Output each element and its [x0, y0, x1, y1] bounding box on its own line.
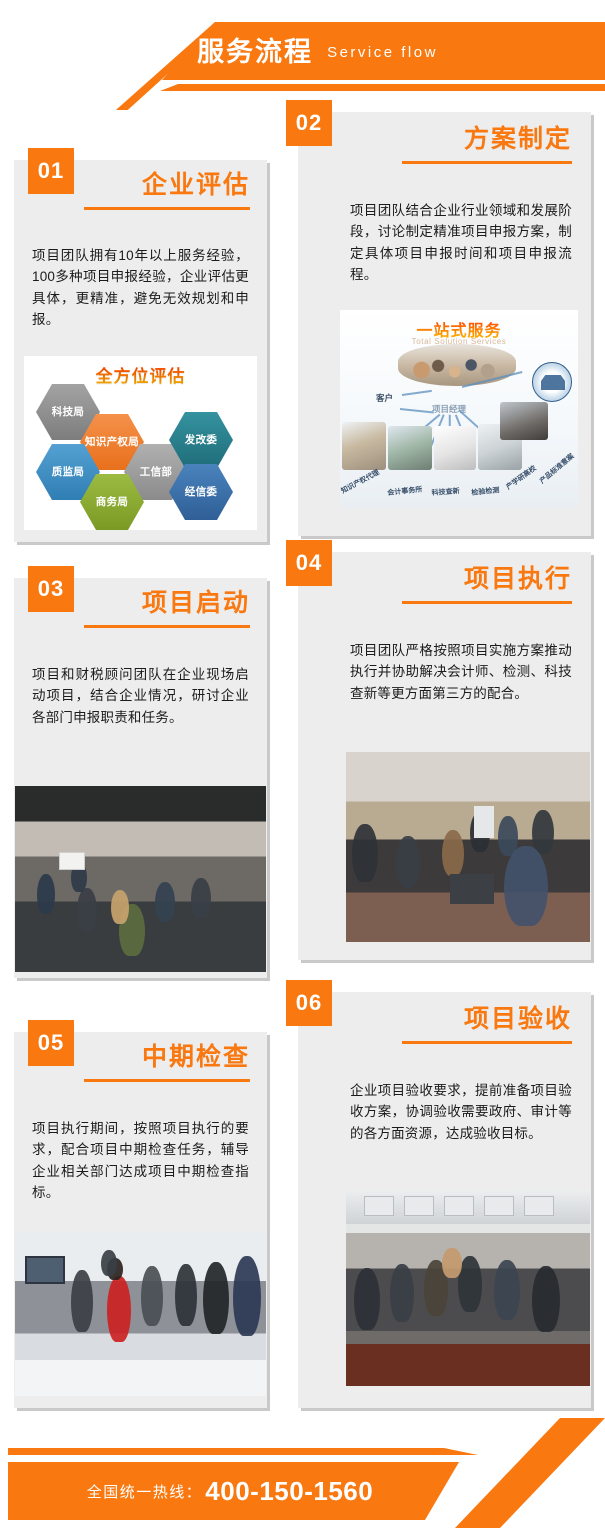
card-number-badge: 01: [28, 148, 74, 194]
leaf-photo-ip: [342, 422, 386, 470]
figure-hero-photo: [398, 344, 516, 386]
card-photo: [346, 752, 590, 942]
card-number-badge: 06: [286, 980, 332, 1026]
hotline-group: 全国统一热线： 400-150-1560: [0, 1462, 460, 1520]
card-body-text: 项目和财税顾问团队在企业现场启动项目，结合企业情况，研讨企业各部门申报职责和任务…: [32, 664, 249, 728]
card-title: 企业评估: [84, 172, 250, 200]
os-leaf-accounting-firm: 会计事务所: [387, 484, 423, 498]
card-number-badge: 04: [286, 540, 332, 586]
os-leaf-ip-agency: 知识产权代理: [340, 467, 381, 496]
infographic-page: 服务流程 Service flow 01 企业评估 项目团队拥有10年以上服务经…: [0, 0, 605, 1538]
process-card-02: 02 方案制定 项目团队结合企业行业领域和发展阶段，讨论制定精准项目申报方案，制…: [298, 112, 591, 536]
title-underline: [402, 161, 572, 164]
figure-title: 全方位评估: [96, 362, 186, 387]
card-title: 项目启动: [84, 590, 250, 618]
process-card-06: 06 项目验收 企业项目验收要求，提前准备项目验收方案，协调验收需要政府、审计等…: [298, 992, 591, 1408]
os-node-customer: 客户: [376, 392, 393, 404]
leaf-photo-research: [434, 426, 476, 470]
process-card-03: 03 项目启动 项目和财税顾问团队在企业现场启动项目，结合企业情况，研讨企业各部…: [14, 578, 267, 978]
title-underline: [402, 601, 572, 604]
arrow-line: [400, 408, 434, 413]
os-leaf-inspection: 检验检测: [471, 485, 500, 498]
title-underline: [84, 207, 250, 210]
card-title: 方案制定: [402, 126, 572, 154]
card-number-badge: 05: [28, 1020, 74, 1066]
all-round-evaluation-figure: 全方位评估 科技局 知识产权局 质监局 工信部 商务局 发改委 经信委: [24, 356, 257, 530]
page-subtitle: Service flow: [327, 45, 438, 60]
page-header: 服务流程 Service flow: [0, 0, 605, 110]
card-body-text: 项目团队结合企业行业领域和发展阶段，讨论制定精准项目申报方案，制定具体项目申报时…: [350, 200, 572, 285]
card-title: 中期检查: [84, 1044, 250, 1072]
page-title: 服务流程: [197, 39, 313, 66]
process-card-05: 05 中期检查 项目执行期间，按照项目执行的要求，配合项目中期检查任务，辅导企业…: [14, 1032, 267, 1408]
title-underline: [402, 1041, 572, 1044]
card-number-badge: 02: [286, 100, 332, 146]
card-photo: [346, 1190, 590, 1386]
card-title: 项目执行: [402, 566, 572, 594]
hotline-label: 全国统一热线：: [87, 1481, 203, 1502]
process-card-01: 01 企业评估 项目团队拥有10年以上服务经验，100多种项目申报经验，企业评估…: [14, 160, 267, 542]
card-number-badge: 03: [28, 566, 74, 612]
certification-seal-icon: [532, 362, 572, 402]
card-photo: [15, 1232, 266, 1396]
arrow-line: [402, 390, 432, 396]
card-title: 项目验收: [402, 1006, 572, 1034]
card-body-text: 项目执行期间，按照项目执行的要求，配合项目中期检查任务，辅导企业相关部门达成项目…: [32, 1118, 249, 1203]
card-body-text: 项目团队严格按照项目实施方案推动执行并协助解决会计师、检测、科技查新等更方面第三…: [350, 640, 572, 704]
card-body-text: 企业项目验收要求，提前准备项目验收方案，协调验收需要政府、审计等的各方面资源，达…: [350, 1080, 572, 1144]
hotline-number: 400-150-1560: [205, 1476, 373, 1507]
process-card-04: 04 项目执行 项目团队严格按照项目实施方案推动执行并协助解决会计师、检测、科技…: [298, 552, 591, 960]
os-leaf-product-standard: 产品标准意案: [538, 451, 577, 486]
card-photo: [15, 786, 266, 972]
leaf-photo-university: [500, 402, 548, 440]
card-body-text: 项目团队拥有10年以上服务经验，100多种项目申报经验，企业评估更具体，更精准，…: [32, 245, 249, 330]
page-footer: 全国统一热线： 400-150-1560: [0, 1410, 605, 1538]
one-stop-service-figure: 一站式服务 Total Solution Services 客户 项目经理: [340, 310, 578, 508]
title-underline: [84, 625, 250, 628]
header-title-group: 服务流程 Service flow: [0, 28, 605, 76]
leaf-photo-accounting: [388, 426, 432, 470]
os-leaf-tech-search: 科技查新: [431, 486, 460, 498]
header-thin-stripe: [0, 84, 605, 91]
title-underline: [84, 1079, 250, 1082]
footer-thin-stripe: [8, 1448, 605, 1455]
